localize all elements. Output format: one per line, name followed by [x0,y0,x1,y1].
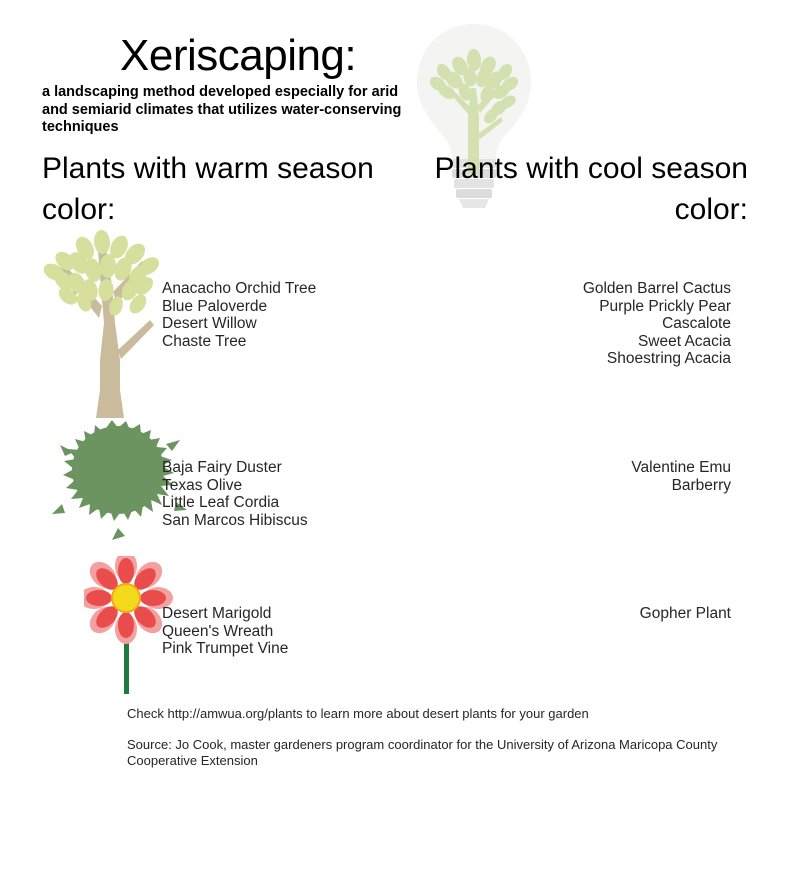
list-item: Purple Prickly Pear [583,298,731,316]
page-subtitle: a landscaping method developed especiall… [42,84,414,137]
list-item: Little Leaf Cordia [162,494,308,512]
list-item: Desert Marigold [162,605,288,623]
list-item: Pink Trumpet Vine [162,640,288,658]
plant-list-trees-warm: Anacacho Orchid Tree Blue Paloverde Dese… [162,280,316,350]
heading-warm-season: Plants with warm season color: [42,148,382,230]
list-item: Baja Fairy Duster [162,459,308,477]
infographic-canvas: Xeriscaping: a landscaping method develo… [0,0,800,875]
list-item: Barberry [631,477,731,495]
page-title: Xeriscaping: [120,30,480,82]
heading-cool-season: Plants with cool season color: [408,148,748,230]
list-item: Texas Olive [162,477,308,495]
plant-list-flowers-cool: Gopher Plant [640,605,731,623]
plant-list-trees-cool: Golden Barrel Cactus Purple Prickly Pear… [583,280,731,368]
list-item: Chaste Tree [162,333,316,351]
list-item: Anacacho Orchid Tree [162,280,316,298]
list-item: Desert Willow [162,315,316,333]
plant-list-shrubs-cool: Valentine Emu Barberry [631,459,731,494]
plant-list-shrubs-warm: Baja Fairy Duster Texas Olive Little Lea… [162,459,308,529]
flower-icon [84,556,174,696]
list-item: Cascalote [583,315,731,333]
footer-note: Check http://amwua.org/plants to learn m… [127,706,747,722]
list-item: Blue Paloverde [162,298,316,316]
list-item: Gopher Plant [640,605,731,623]
plant-list-flowers-warm: Desert Marigold Queen's Wreath Pink Trum… [162,605,288,658]
footer-source: Source: Jo Cook, master gardeners progra… [127,737,737,769]
list-item: San Marcos Hibiscus [162,512,308,530]
list-item: Valentine Emu [631,459,731,477]
list-item: Golden Barrel Cactus [583,280,731,298]
list-item: Shoestring Acacia [583,350,731,368]
list-item: Sweet Acacia [583,333,731,351]
list-item: Queen's Wreath [162,623,288,641]
